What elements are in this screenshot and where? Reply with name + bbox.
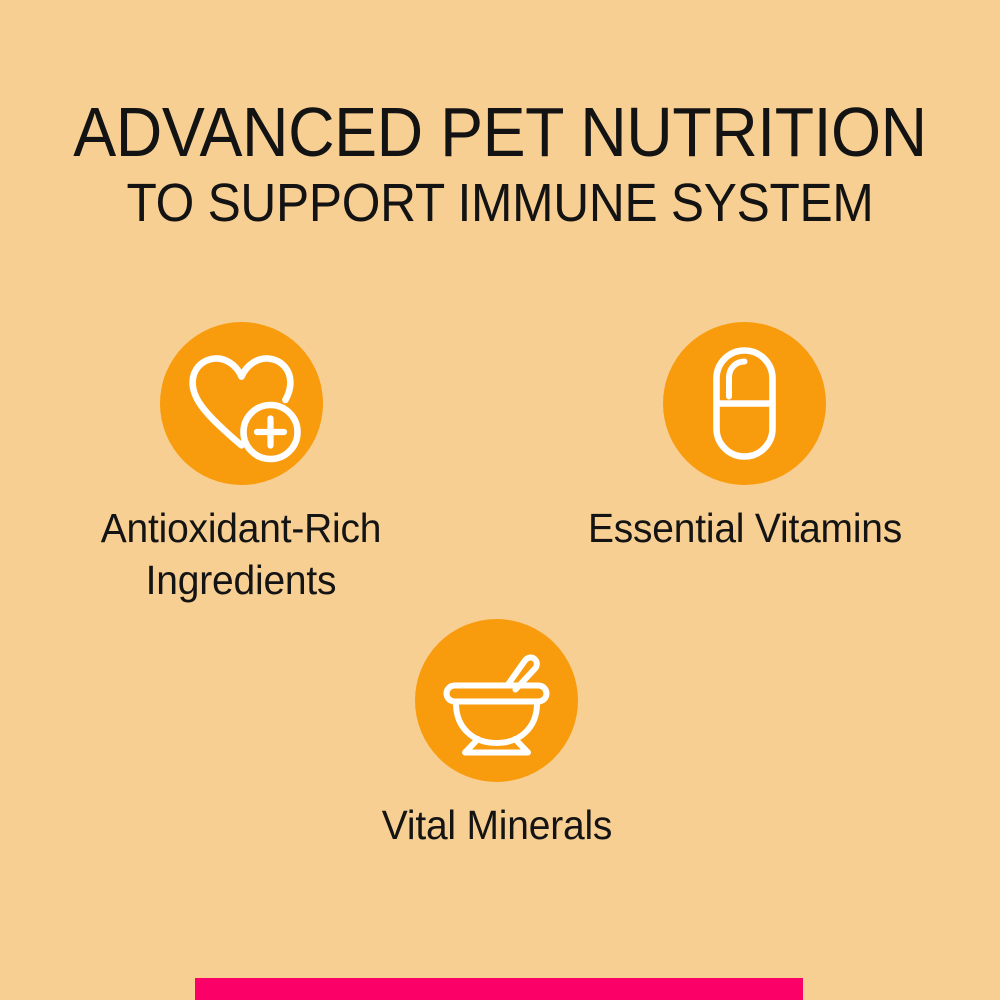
bottom-accent-bar [195, 978, 803, 1000]
feature-icon-badge [415, 619, 578, 782]
poster-canvas: ADVANCED PET NUTRITION TO SUPPORT IMMUNE… [0, 0, 1000, 1000]
feature-vital-minerals: Vital Minerals [316, 619, 678, 851]
capsule-pill-icon [663, 322, 826, 485]
feature-label: Essential Vitamins [573, 502, 917, 554]
mortar-pestle-icon [415, 619, 578, 782]
feature-icon-badge [663, 322, 826, 485]
feature-icon-badge [160, 322, 323, 485]
heart-plus-icon [160, 322, 323, 485]
feature-antioxidant-rich-ingredients: Antioxidant-Rich Ingredients [60, 322, 422, 606]
page-title: ADVANCED PET NUTRITION [40, 96, 960, 168]
feature-label: Antioxidant-Rich Ingredients [69, 502, 413, 606]
page-subtitle: TO SUPPORT IMMUNE SYSTEM [40, 174, 960, 232]
feature-label: Vital Minerals [325, 799, 669, 851]
feature-essential-vitamins: Essential Vitamins [564, 322, 926, 554]
header-block: ADVANCED PET NUTRITION TO SUPPORT IMMUNE… [0, 96, 1000, 232]
